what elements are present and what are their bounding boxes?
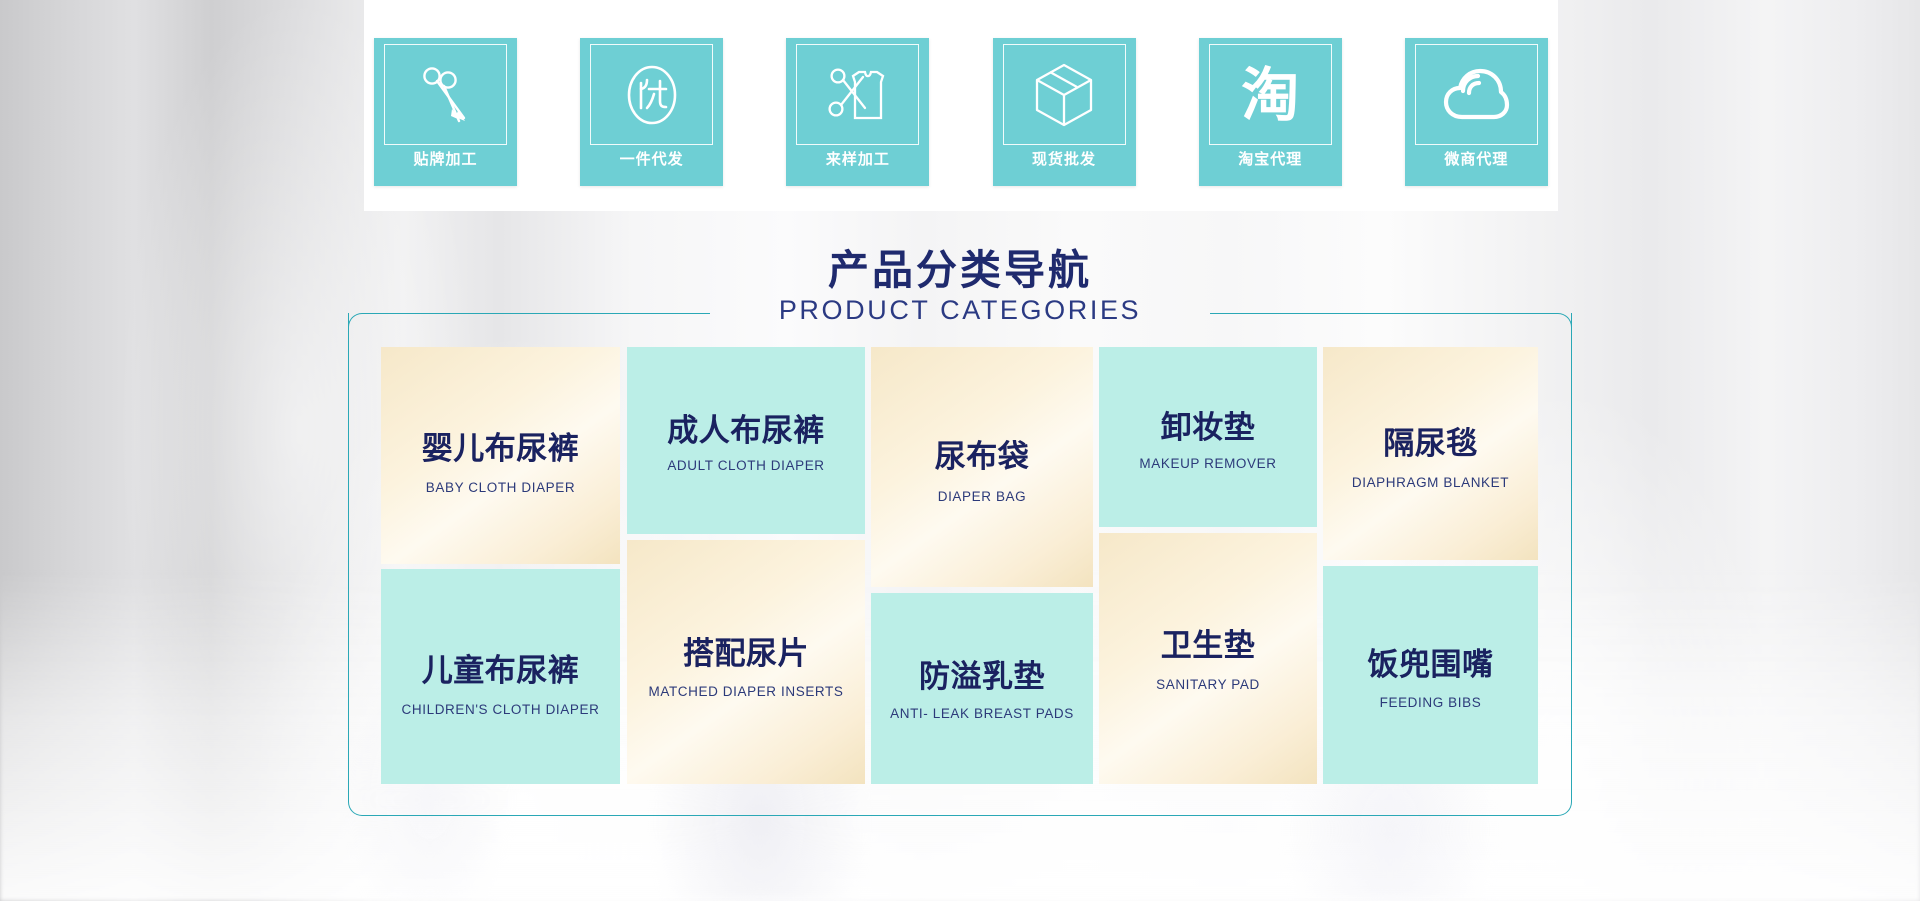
page-title: 产品分类导航	[0, 248, 1920, 294]
taobao-logo-icon: 淘	[1209, 44, 1332, 145]
scissors-shirt-icon	[796, 44, 919, 145]
service-card-taobao[interactable]: 淘 淘宝代理	[1199, 38, 1342, 186]
service-card-sample[interactable]: 来样加工	[786, 38, 929, 186]
category-tile[interactable]: 搭配尿片 MATCHED DIAPER INSERTS	[627, 540, 865, 784]
category-tile[interactable]: 防溢乳垫 ANTI- LEAK BREAST PADS	[871, 593, 1093, 784]
category-name-en: BABY CLOTH DIAPER	[426, 481, 576, 496]
category-tile[interactable]: 儿童布尿裤 CHILDREN'S CLOTH DIAPER	[381, 569, 620, 784]
scissors-icon	[384, 44, 507, 145]
service-label: 淘宝代理	[1238, 152, 1302, 167]
category-tile[interactable]: 隔尿毯 DIAPHRAGM BLANKET	[1323, 347, 1538, 560]
cloud-icon	[1415, 44, 1538, 145]
service-card-wechat[interactable]: 微商代理	[1405, 38, 1548, 186]
category-name-cn: 卫生垫	[1161, 630, 1256, 663]
category-name-en: FEEDING BIBS	[1380, 696, 1482, 711]
category-tile[interactable]: 尿布袋 DIAPER BAG	[871, 347, 1093, 587]
category-name-cn: 成人布尿裤	[667, 415, 825, 448]
service-label: 来样加工	[826, 152, 890, 167]
service-label: 现货批发	[1032, 152, 1096, 167]
service-label: 微商代理	[1444, 152, 1508, 167]
category-name-en: DIAPHRAGM BLANKET	[1352, 476, 1509, 491]
category-name-cn: 尿布袋	[935, 441, 1030, 474]
category-name-en: SANITARY PAD	[1156, 678, 1260, 693]
service-panel: 贴牌加工 一件代发	[364, 0, 1558, 211]
service-card-dropship[interactable]: 一件代发	[580, 38, 723, 186]
service-list: 贴牌加工 一件代发	[364, 38, 1558, 188]
category-grid: 婴儿布尿裤 BABY CLOTH DIAPER 儿童布尿裤 CHILDREN'S…	[381, 347, 1538, 784]
box-package-icon	[1003, 44, 1126, 145]
category-name-en: MAKEUP REMOVER	[1139, 457, 1276, 472]
category-name-en: MATCHED DIAPER INSERTS	[649, 685, 844, 700]
category-tile[interactable]: 卫生垫 SANITARY PAD	[1099, 533, 1317, 784]
page-subtitle: PRODUCT CATEGORIES	[0, 295, 1920, 326]
section-heading: 产品分类导航 PRODUCT CATEGORIES	[0, 248, 1920, 326]
category-tile[interactable]: 饭兜围嘴 FEEDING BIBS	[1323, 566, 1538, 784]
category-name-cn: 儿童布尿裤	[422, 655, 580, 688]
category-name-cn: 隔尿毯	[1383, 428, 1478, 461]
category-name-cn: 防溢乳垫	[919, 661, 1045, 694]
service-card-wholesale[interactable]: 现货批发	[993, 38, 1136, 186]
category-tile[interactable]: 婴儿布尿裤 BABY CLOTH DIAPER	[381, 347, 620, 564]
category-name-cn: 饭兜围嘴	[1368, 649, 1494, 682]
service-label: 一件代发	[620, 152, 684, 167]
category-tile[interactable]: 成人布尿裤 ADULT CLOTH DIAPER	[627, 347, 865, 534]
category-name-en: CHILDREN'S CLOTH DIAPER	[402, 703, 600, 718]
service-card-oem[interactable]: 贴牌加工	[374, 38, 517, 186]
category-name-cn: 搭配尿片	[683, 638, 809, 671]
category-name-en: DIAPER BAG	[938, 490, 1027, 505]
dai-circle-icon	[590, 44, 713, 145]
category-name-cn: 婴儿布尿裤	[422, 433, 580, 466]
category-name-en: ADULT CLOTH DIAPER	[667, 459, 824, 474]
categories-panel: 婴儿布尿裤 BABY CLOTH DIAPER 儿童布尿裤 CHILDREN'S…	[348, 313, 1572, 816]
service-label: 贴牌加工	[413, 152, 477, 167]
category-tile[interactable]: 卸妆垫 MAKEUP REMOVER	[1099, 347, 1317, 527]
category-name-en: ANTI- LEAK BREAST PADS	[890, 707, 1074, 722]
category-name-cn: 卸妆垫	[1161, 412, 1256, 445]
taobao-glyph: 淘	[1241, 66, 1299, 124]
